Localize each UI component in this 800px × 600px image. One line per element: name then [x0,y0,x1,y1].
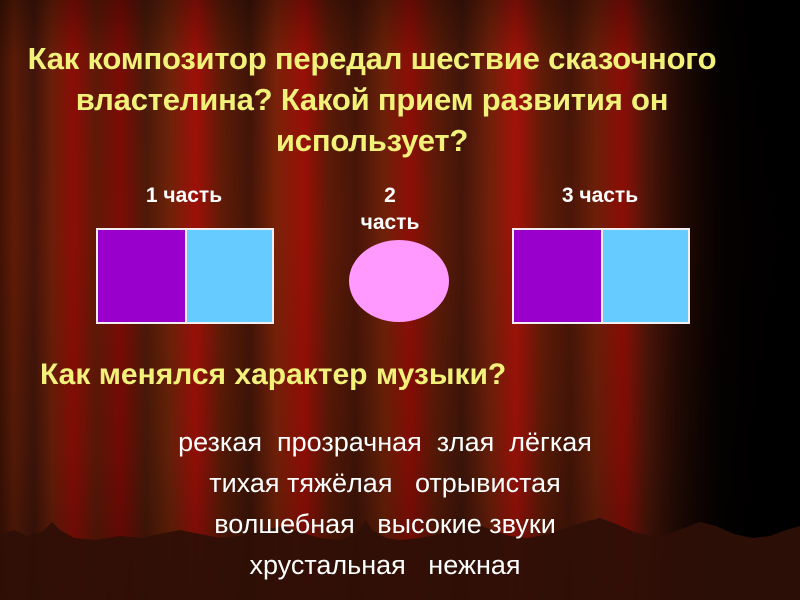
word-line-1: резкая прозрачная злая лёгкая [0,422,770,463]
shape-part-1-purple-square [98,230,185,322]
word-line-4: хрустальная нежная [0,545,770,586]
shape-part-2-pink-circle [349,240,449,322]
part-label-1: 1 часть [96,183,272,210]
part-label-1-line1: 1 часть [96,183,272,210]
shape-part-3-rectangle-pair [512,228,690,324]
shape-part-1-rectangle-pair [96,228,274,324]
part-label-2-line1: 2 [330,183,450,210]
part-label-3: 3 часть [512,183,688,210]
slide-canvas: Как композитор передал шествие сказочног… [0,0,800,600]
character-word-list: резкая прозрачная злая лёгкая тихая тяжё… [0,422,770,586]
part-label-2: 2 часть [330,183,450,237]
part-label-2-line2: часть [330,210,450,237]
shape-part-3-blue-square [601,230,688,322]
secondary-question: Как менялся характер музыки? [40,358,506,392]
word-line-2: тихая тяжёлая отрывистая [0,463,770,504]
part-label-3-line1: 3 часть [512,183,688,210]
shape-part-3-purple-square [514,230,601,322]
shape-part-1-blue-square [185,230,272,322]
page-title: Как композитор передал шествие сказочног… [22,38,722,162]
word-line-3: волшебная высокие звуки [0,504,770,545]
